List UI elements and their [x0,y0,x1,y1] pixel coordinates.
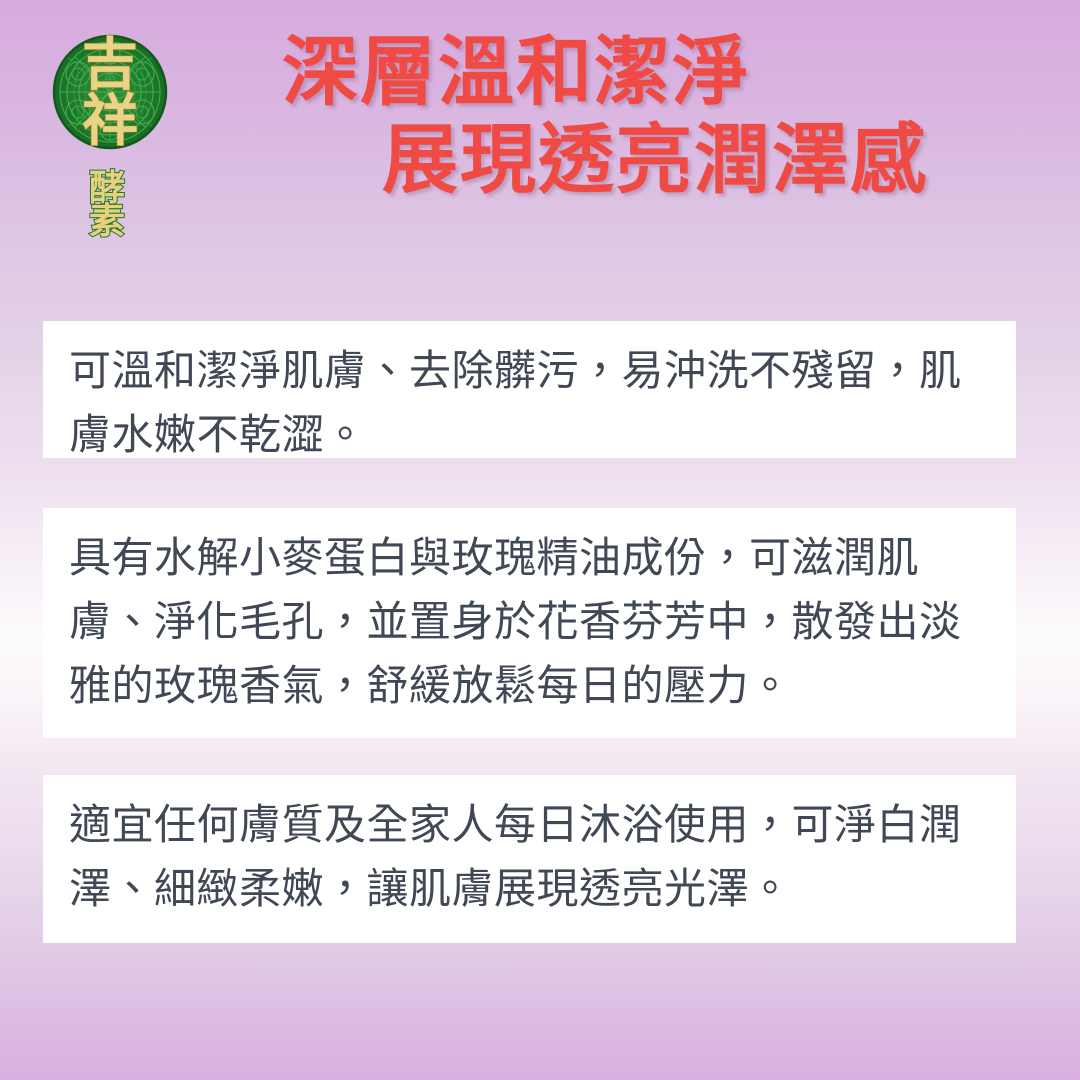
svg-text:祥: 祥 [82,88,138,152]
benefit-card-ingredients: 具有水解小麥蛋白與玫瑰精油成份，可滋潤肌膚、淨化毛孔，並置身於花香芬芳中，散發出… [43,508,1016,738]
benefit-card-suitability: 適宜任何膚質及全家人每日沐浴使用，可淨白潤澤、細緻柔嫩，讓肌膚展現透亮光澤。 [43,775,1016,943]
benefit-card-text: 具有水解小麥蛋白與玫瑰精油成份，可滋潤肌膚、淨化毛孔，並置身於花香芬芳中，散發出… [69,526,990,717]
benefit-card-cleansing: 可溫和潔淨肌膚、去除髒污，易沖洗不殘留，肌膚水嫩不乾澀。 [43,321,1016,458]
brand-subtitle: 酵 素 [42,172,172,238]
benefit-card-text: 適宜任何膚質及全家人每日沐浴使用，可淨白潤澤、細緻柔嫩，讓肌膚展現透亮光澤。 [69,793,990,921]
brand-subtitle-char-2: 素 [42,205,172,238]
brand-logo: 吉 祥 酵 素 [42,22,172,262]
promo-poster: 吉 祥 酵 素 深層溫和潔淨 展現透亮潤澤感 可溫和潔淨肌膚、去除髒污，易沖洗不… [0,0,1080,1080]
page-title-line-2: 展現透亮潤澤感 [260,116,1060,204]
jixiang-medallion-logo-icon: 吉 祥 [48,28,172,152]
page-title: 深層溫和潔淨 展現透亮潤澤感 [260,28,1060,204]
benefit-card-text: 可溫和潔淨肌膚、去除髒污，易沖洗不殘留，肌膚水嫩不乾澀。 [69,339,990,467]
page-title-line-1: 深層溫和潔淨 [260,28,1060,116]
